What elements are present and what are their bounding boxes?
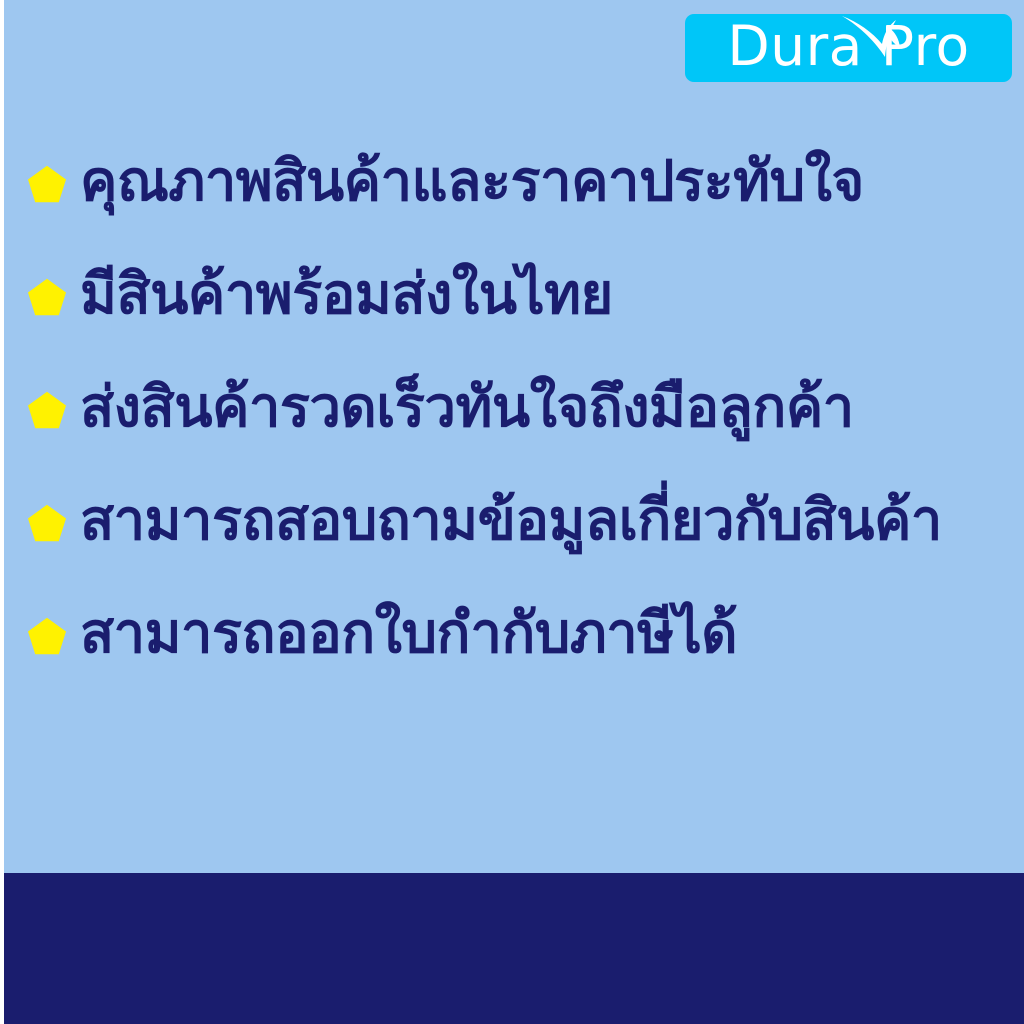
- list-item: คุณภาพสินค้าและราคาประทับใจ: [0, 146, 1020, 259]
- list-item: ส่งสินค้ารวดเร็วทันใจถึงมือลูกค้า: [0, 372, 1020, 485]
- list-item: มีสินค้าพร้อมส่งในไทย: [0, 259, 1020, 372]
- brand-logo[interactable]: Dura Pro: [685, 14, 1012, 82]
- pentagon-bullet-icon: [28, 504, 66, 542]
- banner-canvas: Dura Pro คุณภาพสินค้าและราคาประทับใจ มีส…: [0, 0, 1024, 1024]
- footer-band: [4, 873, 1024, 1024]
- list-item: สามารถสอบถามข้อมูลเกี่ยวกับสินค้า: [0, 485, 1020, 598]
- benefit-label: มีสินค้าพร้อมส่งในไทย: [80, 259, 1020, 331]
- benefit-label: สามารถออกใบกำกับภาษีได้: [80, 598, 1020, 670]
- pentagon-bullet-icon: [28, 278, 66, 316]
- pentagon-bullet-icon: [28, 391, 66, 429]
- pentagon-bullet-icon: [28, 617, 66, 655]
- benefit-label: สามารถสอบถามข้อมูลเกี่ยวกับสินค้า: [80, 485, 1020, 557]
- benefit-label: ส่งสินค้ารวดเร็วทันใจถึงมือลูกค้า: [80, 372, 1020, 444]
- benefits-list: คุณภาพสินค้าและราคาประทับใจ มีสินค้าพร้อ…: [0, 146, 1020, 711]
- benefit-label: คุณภาพสินค้าและราคาประทับใจ: [80, 146, 1020, 218]
- brand-logo-text: Dura Pro: [685, 14, 1012, 82]
- pentagon-bullet-icon: [28, 165, 66, 203]
- list-item: สามารถออกใบกำกับภาษีได้: [0, 598, 1020, 711]
